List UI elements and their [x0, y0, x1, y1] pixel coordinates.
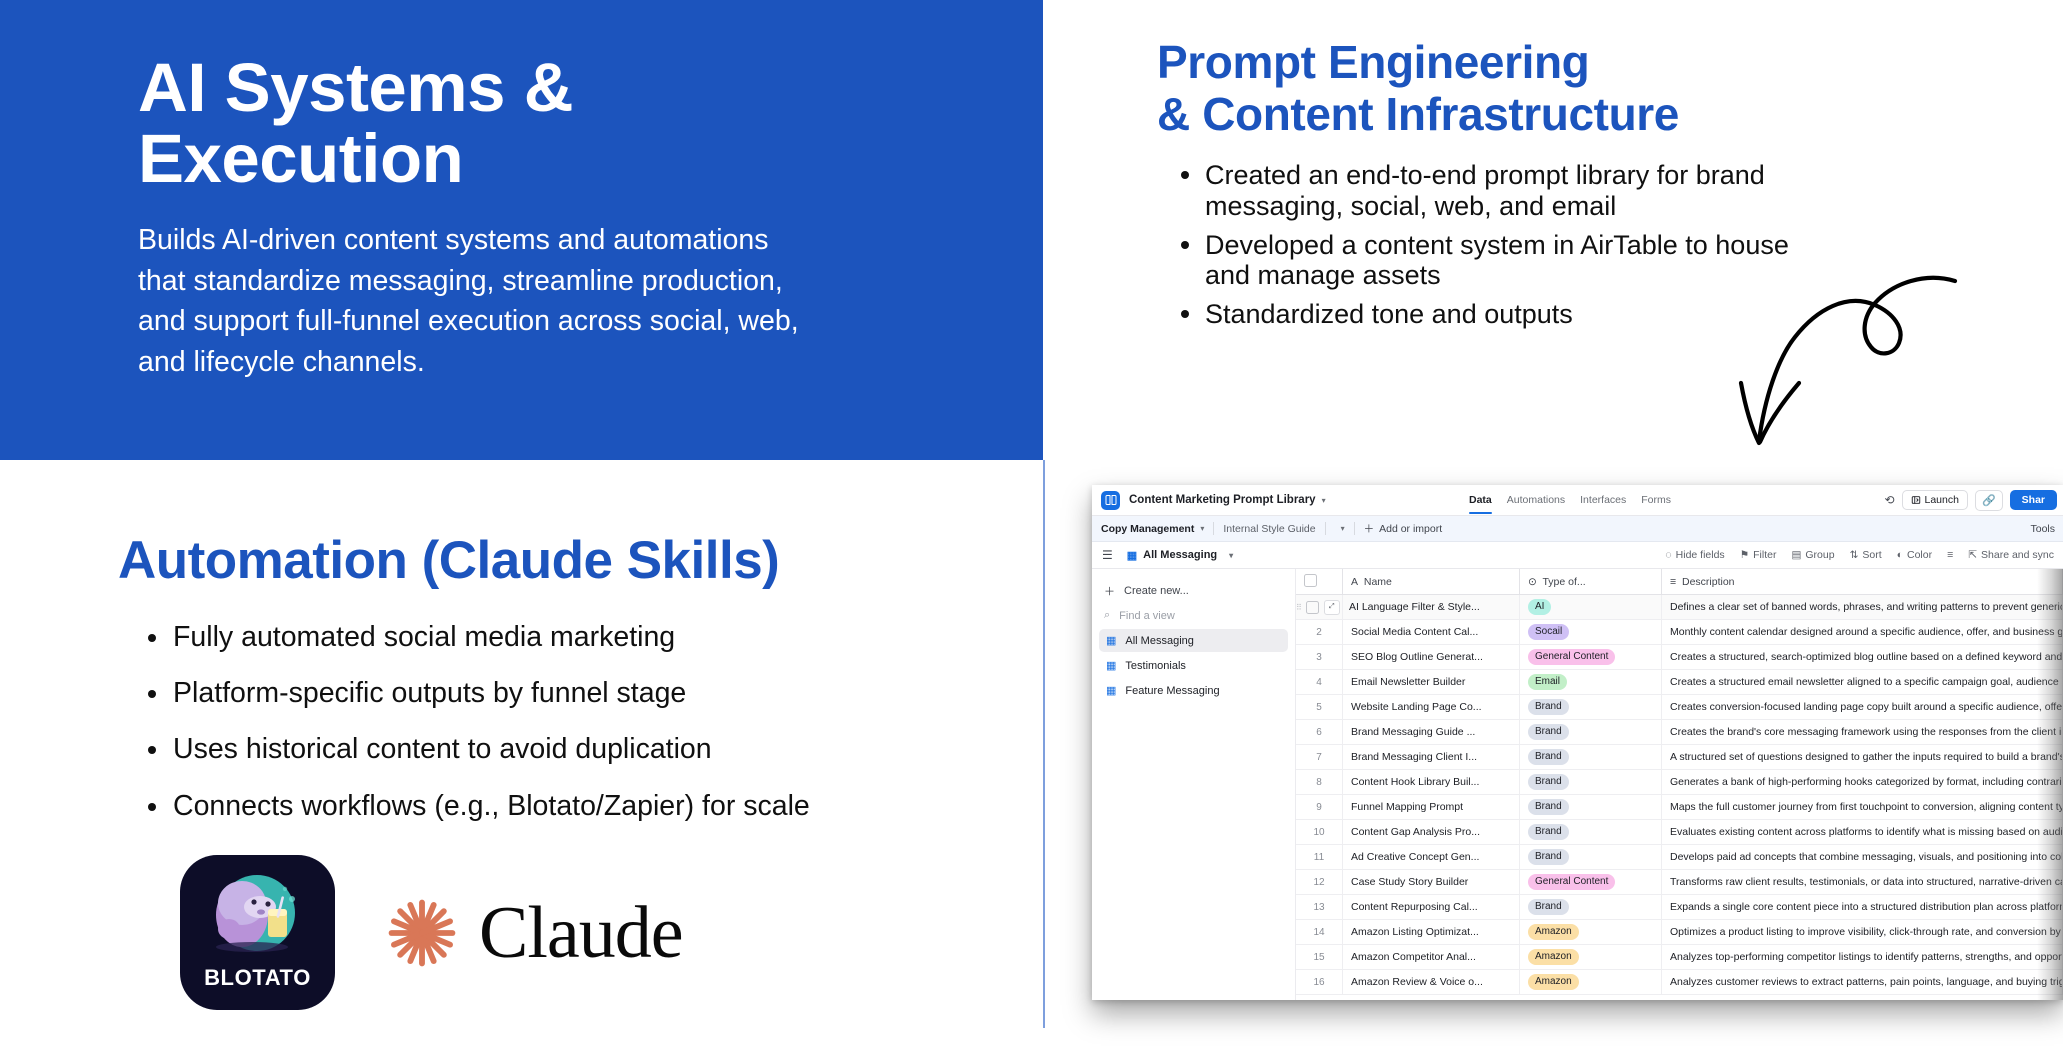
hide-fields-label: Hide fields	[1676, 549, 1725, 561]
add-or-import-button[interactable]: ＋ Add or import	[1364, 521, 1443, 536]
chevron-down-icon[interactable]: ▾	[1200, 524, 1204, 533]
cell-type[interactable]: Brand	[1520, 845, 1662, 870]
hero-title: AI Systems & Execution	[138, 52, 963, 194]
table-row[interactable]: 12Case Study Story BuilderGeneral Conten…	[1296, 870, 2063, 895]
chevron-down-icon[interactable]: ▾	[1229, 551, 1233, 560]
table-row[interactable]: 11Ad Creative Concept Gen...BrandDevelop…	[1296, 845, 2063, 870]
cell-name[interactable]: Content Gap Analysis Pro...	[1343, 820, 1520, 845]
sort-button[interactable]: ⇅Sort	[1850, 549, 1882, 561]
cell-type[interactable]: Brand	[1520, 770, 1662, 795]
airtable-top-actions: ⟲ Launch 🔗 Shar	[1884, 485, 2057, 515]
cell-type[interactable]: Amazon	[1520, 945, 1662, 970]
launch-icon	[1911, 495, 1921, 505]
search-icon: ⌕	[1104, 609, 1110, 622]
records-table-body: ⠿⤢AI Language Filter & Style...AIDefines…	[1296, 595, 2063, 995]
list-item: Fully automated social media marketing	[173, 622, 810, 652]
view-tool-buttons: ◌Hide fields ⚑Filter ▤Group ⇅Sort ◐Color…	[1665, 549, 2054, 561]
row-select-cell[interactable]: ⠿⤢	[1296, 595, 1343, 620]
base-name[interactable]: Content Marketing Prompt Library	[1129, 494, 1316, 506]
find-a-view-input[interactable]: ⌕ Find a view	[1092, 604, 1295, 627]
cell-type[interactable]: Brand	[1520, 720, 1662, 745]
column-header-label: Description	[1682, 576, 1735, 588]
checkbox-icon[interactable]	[1304, 574, 1317, 587]
chevron-down-icon[interactable]: ▾	[1322, 496, 1326, 505]
row-number-cell[interactable]: 3	[1296, 645, 1343, 670]
cell-description[interactable]: Analyzes customer reviews to extract pat…	[1662, 970, 2063, 995]
status-badge: AI	[1528, 599, 1551, 615]
tab-data[interactable]: Data	[1468, 486, 1493, 514]
cell-name[interactable]: Amazon Competitor Anal...	[1343, 945, 1520, 970]
status-badge: Brand	[1528, 749, 1569, 765]
column-header-name[interactable]: A Name	[1343, 569, 1520, 595]
cell-description[interactable]: Generates a bank of high-performing hook…	[1662, 770, 2063, 795]
group-label: Group	[1805, 549, 1834, 561]
sort-label: Sort	[1862, 549, 1881, 561]
status-badge: Amazon	[1528, 949, 1579, 965]
table-row[interactable]: 5Website Landing Page Co...BrandCreates …	[1296, 695, 2063, 720]
cell-description[interactable]: Analyzes top-performing competitor listi…	[1662, 945, 2063, 970]
cell-description[interactable]: Transforms raw client results, testimoni…	[1662, 870, 2063, 895]
drag-handle-icon[interactable]: ⠿	[1296, 603, 1301, 612]
cell-type[interactable]: Amazon	[1520, 920, 1662, 945]
cell-description[interactable]: Creates a structured email newsletter al…	[1662, 670, 2063, 695]
row-number-cell[interactable]: 8	[1296, 770, 1343, 795]
row-number-cell[interactable]: 9	[1296, 795, 1343, 820]
status-badge: General Content	[1528, 874, 1615, 890]
group-icon: ▤	[1791, 549, 1801, 561]
list-item: Platform-specific outputs by funnel stag…	[173, 678, 810, 708]
row-number-cell[interactable]: 10	[1296, 820, 1343, 845]
grid-view-icon: ▦	[1106, 684, 1116, 697]
divider	[1325, 522, 1326, 535]
cell-name[interactable]: Funnel Mapping Prompt	[1343, 795, 1520, 820]
airtable-top-tabs: Data Automations Interfaces Forms	[1468, 485, 1672, 515]
table-row[interactable]: 6Brand Messaging Guide ...BrandCreates t…	[1296, 720, 2063, 745]
share-and-sync-label: Share and sync	[1981, 549, 2054, 561]
claude-starburst-icon	[383, 894, 461, 972]
logo-row: BLOTATO	[180, 855, 683, 1010]
plus-icon: ＋	[1364, 521, 1375, 536]
grid-view-icon: ▦	[1106, 634, 1116, 647]
paint-icon: ◐	[1897, 549, 1903, 561]
cell-name[interactable]: Content Hook Library Buil...	[1343, 770, 1520, 795]
expand-record-icon[interactable]: ⤢	[1324, 600, 1340, 615]
slide-root: AI Systems & Execution Builds AI-driven …	[0, 0, 2063, 1056]
table-row[interactable]: ⠿⤢AI Language Filter & Style...AIDefines…	[1296, 595, 2063, 620]
tools-label[interactable]: Tools	[2030, 523, 2055, 535]
status-badge: Brand	[1528, 699, 1569, 715]
cell-type[interactable]: General Content	[1520, 870, 1662, 895]
table-row[interactable]: 9Funnel Mapping PromptBrandMaps the full…	[1296, 795, 2063, 820]
tab-interfaces[interactable]: Interfaces	[1579, 486, 1627, 514]
cell-description[interactable]: Monthly content calendar designed around…	[1662, 620, 2063, 645]
cell-name[interactable]: SEO Blog Outline Generat...	[1343, 645, 1520, 670]
grid-view-icon: ▦	[1106, 659, 1116, 672]
share-and-sync-button[interactable]: ⇱Share and sync	[1968, 549, 2054, 561]
row-height-button[interactable]: ≡	[1947, 549, 1953, 561]
table-tab-internal-style-guide[interactable]: Internal Style Guide	[1223, 523, 1315, 535]
airtable-sidebar: ＋ Create new... ⌕ Find a view ▦ All Mess…	[1092, 569, 1296, 1000]
share-button[interactable]: Shar	[2010, 490, 2057, 510]
cell-type[interactable]: General Content	[1520, 645, 1662, 670]
column-header-description[interactable]: ≡ Description	[1662, 569, 2063, 595]
long-text-icon: ≡	[1670, 576, 1676, 588]
cell-type[interactable]: Email	[1520, 670, 1662, 695]
row-number-cell[interactable]: 4	[1296, 670, 1343, 695]
cell-type[interactable]: Brand	[1520, 745, 1662, 770]
cell-description[interactable]: Maps the full customer journey from firs…	[1662, 795, 2063, 820]
filter-button[interactable]: ⚑Filter	[1740, 549, 1777, 561]
row-number-cell[interactable]: 2	[1296, 620, 1343, 645]
hero-subtitle: Builds AI-driven content systems and aut…	[138, 220, 938, 382]
status-badge: Brand	[1528, 799, 1569, 815]
row-number-cell[interactable]: 16	[1296, 970, 1343, 995]
chevron-down-icon[interactable]: ▾	[1341, 524, 1345, 533]
row-number-cell[interactable]: 5	[1296, 695, 1343, 720]
cell-name[interactable]: Website Landing Page Co...	[1343, 695, 1520, 720]
table-row[interactable]: 10Content Gap Analysis Pro...BrandEvalua…	[1296, 820, 2063, 845]
tab-automations[interactable]: Automations	[1506, 486, 1566, 514]
text-field-icon: A	[1351, 576, 1358, 588]
blotato-label: BLOTATO	[204, 965, 311, 991]
current-view-label: All Messaging	[1143, 549, 1217, 561]
list-item: Uses historical content to avoid duplica…	[173, 734, 810, 764]
table-header-row: A Name ⊙ Type of... ≡ Description	[1296, 569, 2063, 595]
row-number-cell[interactable]: 12	[1296, 870, 1343, 895]
blotato-mascot-icon	[180, 863, 335, 971]
history-icon[interactable]: ⟲	[1884, 493, 1894, 507]
single-select-icon: ⊙	[1528, 576, 1537, 588]
right-column: Prompt Engineering & Content Infrastruct…	[1043, 0, 2063, 1056]
cell-name[interactable]: Amazon Review & Voice o...	[1343, 970, 1520, 995]
sort-icon: ⇅	[1850, 549, 1859, 561]
table-row[interactable]: 2Social Media Content Cal...SocailMonthl…	[1296, 620, 2063, 645]
automation-section: Automation (Claude Skills) Fully automat…	[0, 460, 1043, 1056]
filter-label: Filter	[1753, 549, 1776, 561]
column-header-label: Name	[1364, 576, 1392, 588]
grid-view-icon: ▦	[1127, 549, 1137, 562]
create-new-label: Create new...	[1124, 585, 1189, 597]
current-view[interactable]: ▦ All Messaging ▾	[1127, 549, 1233, 562]
row-number-cell[interactable]: 6	[1296, 720, 1343, 745]
divider	[1354, 522, 1355, 535]
row-number-cell[interactable]: 11	[1296, 845, 1343, 870]
cell-description[interactable]: Evaluates existing content across platfo…	[1662, 820, 2063, 845]
airtable-body: ＋ Create new... ⌕ Find a view ▦ All Mess…	[1092, 569, 2063, 1000]
cell-description[interactable]: Optimizes a product listing to improve v…	[1662, 920, 2063, 945]
column-header-type[interactable]: ⊙ Type of...	[1520, 569, 1662, 595]
cell-description[interactable]: Defines a clear set of banned words, phr…	[1662, 595, 2063, 620]
status-badge: Email	[1528, 674, 1567, 690]
claude-wordmark: Claude	[479, 896, 683, 970]
table-row[interactable]: 3SEO Blog Outline Generat...General Cont…	[1296, 645, 2063, 670]
automation-title: Automation (Claude Skills)	[118, 530, 779, 591]
cell-name[interactable]: Ad Creative Concept Gen...	[1343, 845, 1520, 870]
create-new-button[interactable]: ＋ Create new...	[1092, 578, 1295, 604]
claude-logo: Claude	[383, 894, 683, 972]
select-all-header[interactable]	[1296, 569, 1343, 595]
prompt-engineering-title: Prompt Engineering & Content Infrastruct…	[1157, 36, 1679, 141]
cell-name[interactable]: Amazon Listing Optimizat...	[1343, 920, 1520, 945]
airtable-view-toolbar: ☰ ▦ All Messaging ▾ ◌Hide fields ⚑Filter…	[1092, 542, 2063, 569]
sidebar-item-label: Feature Messaging	[1125, 685, 1219, 697]
eye-off-icon: ◌	[1665, 549, 1671, 561]
color-button[interactable]: ◐Color	[1897, 549, 1932, 561]
hero-panel: AI Systems & Execution Builds AI-driven …	[0, 0, 1043, 460]
sidebar-item-all-messaging[interactable]: ▦ All Messaging	[1099, 629, 1288, 652]
add-or-import-label: Add or import	[1379, 523, 1442, 535]
tab-forms[interactable]: Forms	[1640, 486, 1672, 514]
plus-icon: ＋	[1104, 583, 1115, 599]
table-row[interactable]: 4Email Newsletter BuilderEmailCreates a …	[1296, 670, 2063, 695]
cell-description[interactable]: Expands a single core content piece into…	[1662, 895, 2063, 920]
sidebar-item-feature-messaging[interactable]: ▦ Feature Messaging	[1099, 679, 1288, 702]
color-label: Color	[1907, 549, 1932, 561]
cell-type[interactable]: Brand	[1520, 895, 1662, 920]
cell-name[interactable]: Case Study Story Builder	[1343, 870, 1520, 895]
launch-label: Launch	[1925, 494, 1959, 506]
status-badge: Amazon	[1528, 924, 1579, 940]
cell-type[interactable]: Amazon	[1520, 970, 1662, 995]
hide-fields-button[interactable]: ◌Hide fields	[1665, 549, 1724, 561]
status-badge: Brand	[1528, 724, 1569, 740]
cell-type[interactable]: Socail	[1520, 620, 1662, 645]
sidebar-toggle-icon[interactable]: ☰	[1102, 548, 1113, 562]
cell-description[interactable]: Develops paid ad concepts that combine m…	[1662, 845, 2063, 870]
share-icon: ⇱	[1968, 549, 1977, 561]
table-row[interactable]: 7Brand Messaging Client I...BrandA struc…	[1296, 745, 2063, 770]
airtable-topbar: Content Marketing Prompt Library ▾ Data …	[1092, 485, 2063, 516]
link-icon[interactable]: 🔗	[1975, 490, 2003, 511]
cell-name[interactable]: Content Repurposing Cal...	[1343, 895, 1520, 920]
row-number-cell[interactable]: 7	[1296, 745, 1343, 770]
status-badge: Brand	[1528, 824, 1569, 840]
cell-type[interactable]: Brand	[1520, 795, 1662, 820]
base-book-icon	[1101, 491, 1120, 510]
sidebar-item-label: Testimonials	[1125, 660, 1186, 672]
cell-description[interactable]: A structured set of questions designed t…	[1662, 745, 2063, 770]
cell-name[interactable]: AI Language Filter & Style...	[1343, 595, 1520, 620]
cell-name[interactable]: Brand Messaging Client I...	[1343, 745, 1520, 770]
sidebar-item-label: All Messaging	[1125, 635, 1193, 647]
table-tab-copy-management[interactable]: Copy Management	[1101, 523, 1194, 535]
status-badge: Socail	[1528, 624, 1569, 640]
find-a-view-label: Find a view	[1119, 610, 1175, 622]
list-item: Connects workflows (e.g., Blotato/Zapier…	[173, 791, 810, 821]
list-item: Developed a content system in AirTable t…	[1205, 230, 1825, 292]
list-item: Created an end-to-end prompt library for…	[1205, 160, 1825, 222]
status-badge: Amazon	[1528, 974, 1579, 990]
row-height-icon: ≡	[1947, 549, 1953, 561]
cell-name[interactable]: Social Media Content Cal...	[1343, 620, 1520, 645]
cell-type[interactable]: Brand	[1520, 820, 1662, 845]
status-badge: Brand	[1528, 899, 1569, 915]
divider	[1213, 522, 1214, 535]
table-row[interactable]: 13Content Repurposing Cal...BrandExpands…	[1296, 895, 2063, 920]
table-row[interactable]: 14Amazon Listing Optimizat...AmazonOptim…	[1296, 920, 2063, 945]
group-button[interactable]: ▤Group	[1791, 549, 1834, 561]
status-badge: Brand	[1528, 774, 1569, 790]
airtable-table-tabs: Copy Management ▾ Internal Style Guide ▾…	[1092, 516, 2063, 542]
row-number-cell[interactable]: 15	[1296, 945, 1343, 970]
cell-description[interactable]: Creates a structured, search-optimized b…	[1662, 645, 2063, 670]
cell-description[interactable]: Creates the brand's core messaging frame…	[1662, 720, 2063, 745]
row-number-cell[interactable]: 13	[1296, 895, 1343, 920]
cell-name[interactable]: Email Newsletter Builder	[1343, 670, 1520, 695]
status-badge: Brand	[1528, 849, 1569, 865]
blotato-logo: BLOTATO	[180, 855, 335, 1010]
column-header-label: Type of...	[1542, 576, 1585, 588]
list-item: Standardized tone and outputs	[1205, 299, 1825, 330]
prompt-engineering-bullet-list: Created an end-to-end prompt library for…	[1173, 160, 1825, 338]
airtable-screenshot[interactable]: Content Marketing Prompt Library ▾ Data …	[1092, 485, 2063, 1000]
table-row[interactable]: 15Amazon Competitor Anal...AmazonAnalyze…	[1296, 945, 2063, 970]
checkbox-icon[interactable]	[1306, 601, 1319, 614]
sidebar-item-testimonials[interactable]: ▦ Testimonials	[1099, 654, 1288, 677]
table-row[interactable]: 16Amazon Review & Voice o...AmazonAnalyz…	[1296, 970, 2063, 995]
status-badge: General Content	[1528, 649, 1615, 665]
automation-bullet-list: Fully automated social media marketing P…	[140, 622, 810, 847]
launch-button[interactable]: Launch	[1902, 490, 1968, 510]
filter-icon: ⚑	[1740, 549, 1749, 561]
airtable-grid[interactable]: A Name ⊙ Type of... ≡ Description	[1296, 569, 2063, 1000]
cell-description[interactable]: Creates conversion-focused landing page …	[1662, 695, 2063, 720]
records-table: A Name ⊙ Type of... ≡ Description	[1296, 569, 2063, 995]
row-number-cell[interactable]: 14	[1296, 920, 1343, 945]
table-row[interactable]: 8Content Hook Library Buil...BrandGenera…	[1296, 770, 2063, 795]
cell-type[interactable]: Brand	[1520, 695, 1662, 720]
cell-name[interactable]: Brand Messaging Guide ...	[1343, 720, 1520, 745]
cell-type[interactable]: AI	[1520, 595, 1662, 620]
